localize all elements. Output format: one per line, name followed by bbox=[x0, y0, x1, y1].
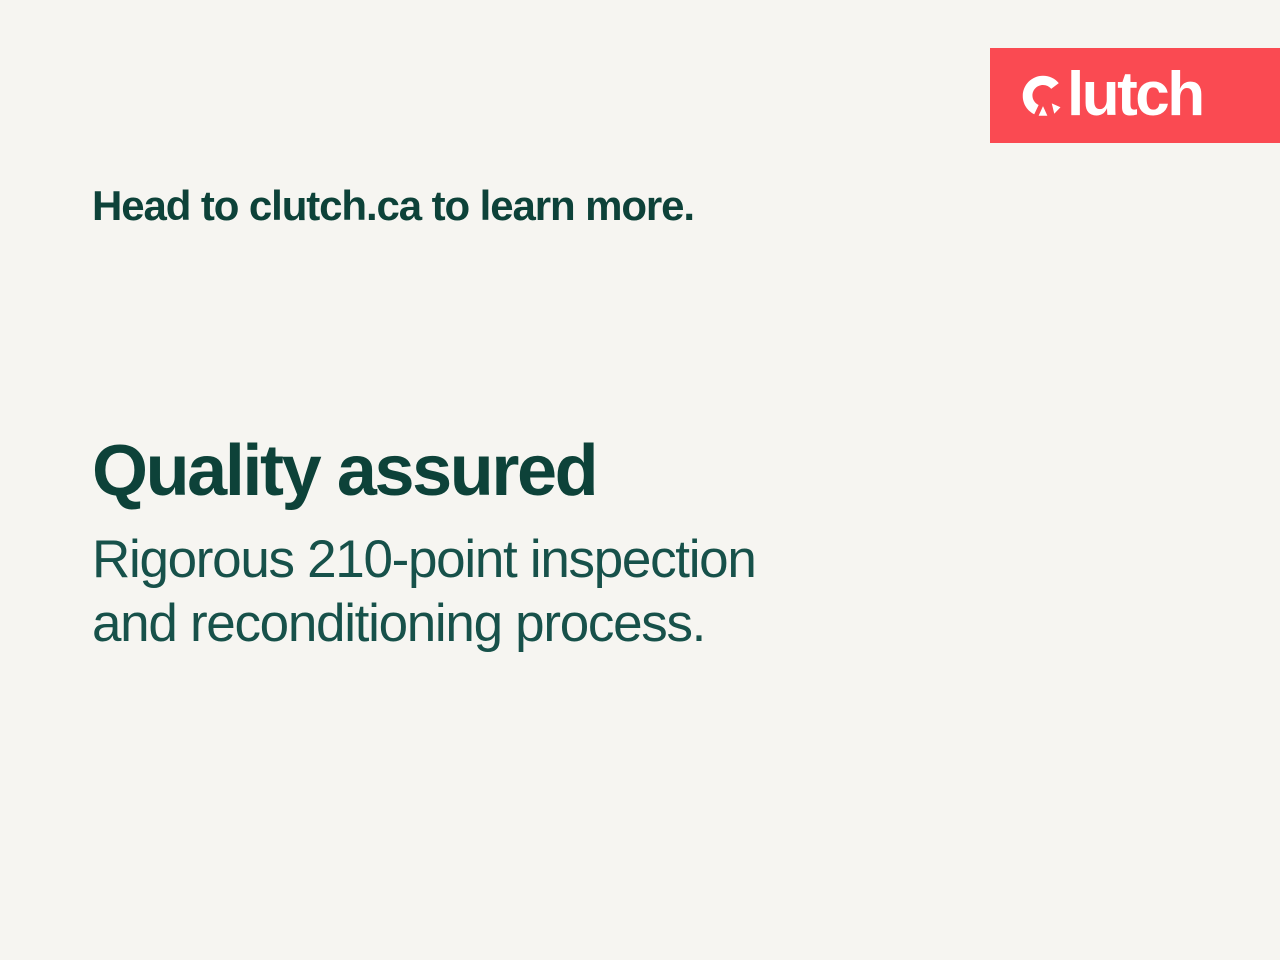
subhead-line-1: Rigorous 210-point inspection bbox=[92, 528, 1092, 593]
slide-canvas: lutch Head to clutch.ca to learn more. Q… bbox=[0, 0, 1280, 960]
brand-wordmark: lutch bbox=[1067, 64, 1203, 126]
cta-text: Head to clutch.ca to learn more. bbox=[92, 182, 694, 230]
subhead-line-2: and reconditioning process. bbox=[92, 592, 1092, 657]
headline-block: Quality assured Rigorous 210-point inspe… bbox=[92, 434, 1092, 657]
page-title: Quality assured bbox=[92, 434, 1092, 510]
clutch-c-mark-icon bbox=[1020, 73, 1066, 119]
brand-banner: lutch bbox=[990, 48, 1280, 143]
clutch-logo: lutch bbox=[1020, 66, 1203, 126]
subhead: Rigorous 210-point inspection and recond… bbox=[92, 528, 1092, 657]
